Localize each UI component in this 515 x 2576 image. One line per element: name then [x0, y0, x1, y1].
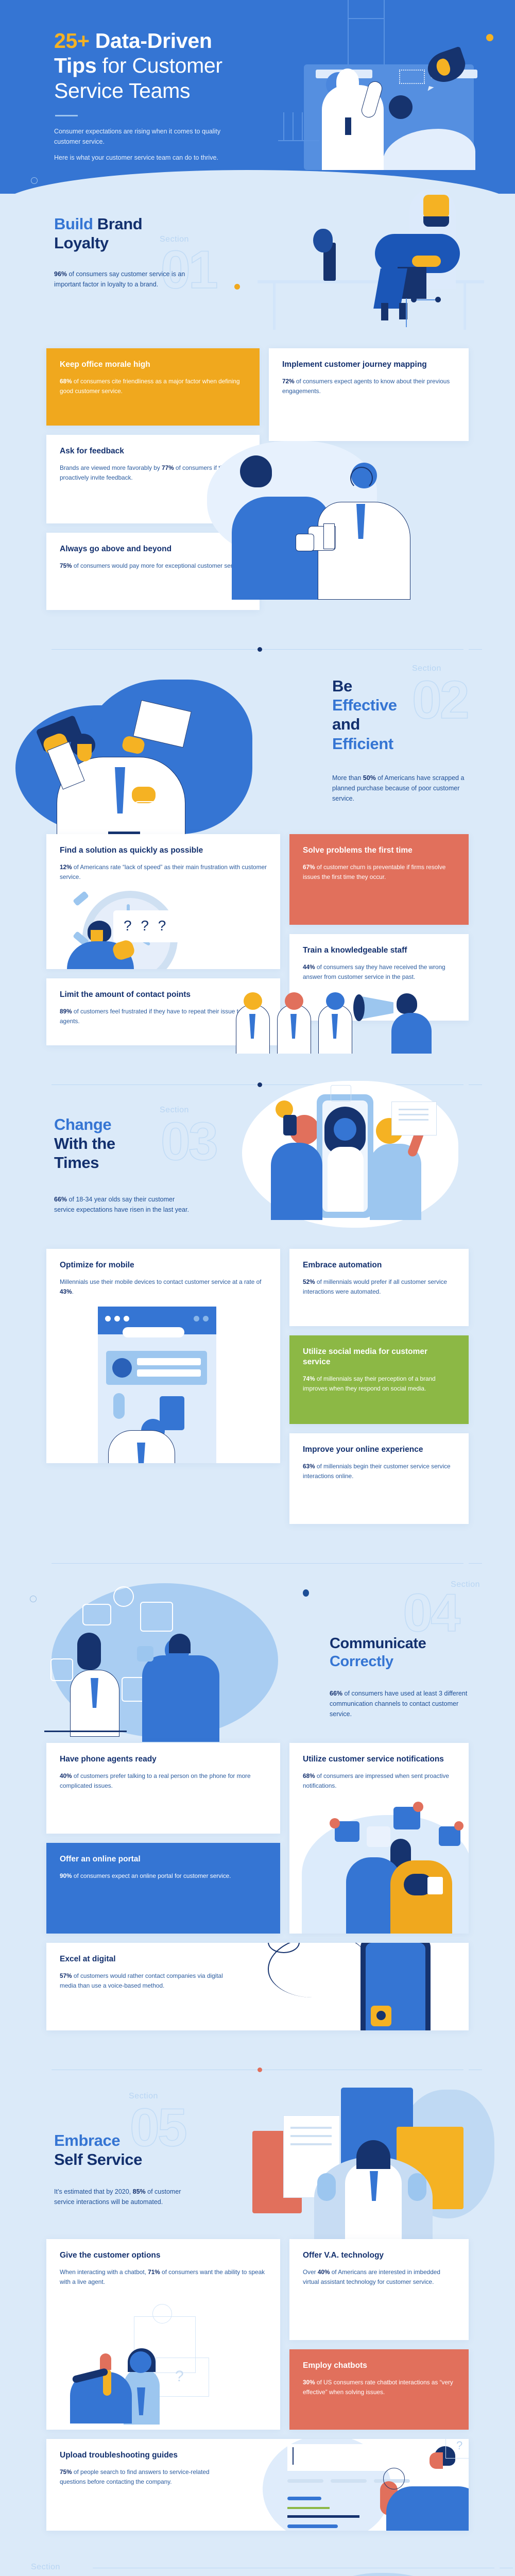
- section-03-stat-text: of 18-34 year olds say their customer se…: [54, 1196, 189, 1213]
- card-body: 30% of US consumers rate chatbot interac…: [303, 2378, 455, 2397]
- section-06: Section 06 Reap the Rewards of Excellent…: [0, 2561, 515, 2576]
- section-04: Communicate Correctly 66% of consumers h…: [0, 1573, 515, 2070]
- section-03-title-a: Change: [54, 1115, 111, 1133]
- section-04-stat-pct: 66%: [330, 1690, 342, 1697]
- section-05-title-b: Self Service: [54, 2150, 142, 2168]
- card-title: Employ chatbots: [303, 2361, 455, 2371]
- section-04-illustration: [21, 1583, 324, 1743]
- card-body: 44% of consumers say they have received …: [303, 962, 455, 982]
- title-line3: Service Teams: [54, 79, 190, 103]
- card-keep-office-morale-high: Keep office morale high 68% of consumers…: [46, 348, 260, 426]
- section-02-title-a: Be: [332, 677, 352, 695]
- section-02-stat-pct: 50%: [363, 774, 376, 782]
- card-title: Keep office morale high: [60, 360, 246, 370]
- accent-dot: [234, 284, 240, 290]
- card-body: 75% of people search to find answers to …: [60, 2467, 230, 2487]
- card-body: 67% of customer churn is preventable if …: [303, 862, 455, 882]
- card-optimize-for-mobile: Optimize for mobile Millennials use thei…: [46, 1249, 280, 1463]
- card-body: 40% of customers prefer talking to a rea…: [60, 1771, 267, 1791]
- card-offer-an-online-portal: Offer an online portal 90% of consumers …: [46, 1843, 280, 1934]
- hero-banner: 25+ Data-Driven Tips for Customer Servic…: [0, 0, 515, 170]
- card-solve-problems-the-first-time: Solve problems the first time 67% of cus…: [289, 834, 469, 925]
- card-give-the-customer-options: Give the customer options When interacti…: [46, 2239, 280, 2430]
- section-divider: [51, 649, 463, 650]
- card-title: Implement customer journey mapping: [282, 360, 455, 370]
- card-title: Give the customer options: [60, 2250, 267, 2261]
- hero-illustration: [273, 0, 515, 170]
- card-body: When interacting with a chatbot, 71% of …: [60, 2267, 267, 2287]
- section-02-illustration: [5, 674, 299, 844]
- card-employ-chatbots: Employ chatbots 30% of US consumers rate…: [289, 2349, 469, 2430]
- card-body: 68% of consumers are impressed when sent…: [303, 1771, 455, 1791]
- page-title: 25+ Data-Driven Tips for Customer Servic…: [54, 28, 288, 103]
- section-05-stat-pct: 85%: [133, 2188, 146, 2195]
- section-04-title-b: Correctly: [330, 1653, 393, 1670]
- section-01-stat-text: of consumers say customer service is an …: [54, 270, 185, 288]
- section-02-title-b: Effective: [332, 696, 397, 714]
- section-03: Change With the Times Section 03 66% of …: [0, 1094, 515, 1564]
- card-title: Find a solution as quickly as possible: [60, 845, 267, 856]
- card-find-a-solution-as-quickly-as-possible: Find a solution as quickly as possible 1…: [46, 834, 280, 969]
- card-body: 72% of consumers expect agents to know a…: [282, 377, 455, 396]
- accent-ring: [30, 1596, 37, 1602]
- section-04-stat-text: of consumers have used at least 3 differ…: [330, 1690, 467, 1718]
- section-02-stat-pre: More than: [332, 774, 363, 782]
- card-title: Utilize social media for customer servic…: [303, 1347, 455, 1367]
- section-05-title-a: Embrace: [54, 2131, 120, 2149]
- section-02-title-c: and: [332, 715, 360, 733]
- card-body: 57% of customers would rather contact co…: [60, 1971, 230, 1991]
- card-body: Millennials use their mobile devices to …: [60, 1277, 267, 1297]
- title-underline: [55, 115, 78, 116]
- card-body: Over 40% of Americans are interested in …: [303, 2267, 455, 2287]
- section-01-title-b: Brand: [93, 215, 143, 233]
- section-divider: [51, 2070, 463, 2070]
- card-embrace-automation: Embrace automation 52% of millennials wo…: [289, 1249, 469, 1326]
- card-upload-troubleshooting-guides: Upload troubleshooting guides 75% of peo…: [46, 2439, 469, 2531]
- card-improve-your-online-experience: Improve your online experience 63% of mi…: [289, 1433, 469, 1524]
- card-title: Improve your online experience: [303, 1445, 455, 1455]
- card-body: 63% of millennials begin their customer …: [303, 1462, 455, 1481]
- section-04-number: 04: [403, 1586, 458, 1640]
- title-bold-b: Tips: [54, 54, 96, 77]
- card-utilize-social-media-for-customer-service: Utilize social media for customer servic…: [289, 1335, 469, 1424]
- hero-paragraph-2: Here is what your customer service team …: [54, 153, 239, 163]
- section-01-title-c: Loyalty: [54, 234, 109, 252]
- card-body: 68% of consumers cite friendliness as a …: [60, 377, 246, 396]
- card-title: Have phone agents ready: [60, 1754, 267, 1765]
- section-01-handshake-illustration: [186, 436, 475, 606]
- section-01-illustration: [257, 173, 500, 343]
- card-title: Train a knowledgeable staff: [303, 945, 455, 956]
- section-03-title-c: Times: [54, 1154, 99, 1172]
- section-01-stat-pct: 96%: [54, 270, 67, 278]
- accent-dot: [303, 1589, 309, 1597]
- card-have-phone-agents-ready: Have phone agents ready 40% of customers…: [46, 1743, 280, 1834]
- card-utilize-customer-service-notifications: Utilize customer service notifications 6…: [289, 1743, 469, 1934]
- title-bold-a: Data-Driven: [95, 29, 212, 53]
- hero-paragraph-1: Consumer expectations are rising when it…: [54, 127, 239, 147]
- card-body: 52% of millennials would prefer if all c…: [303, 1277, 455, 1297]
- card-title: Offer V.A. technology: [303, 2250, 455, 2261]
- card-title: Utilize customer service notifications: [303, 1754, 455, 1765]
- card-excel-at-digital: Excel at digital 57% of customers would …: [46, 1943, 469, 2030]
- title-count: 25+: [54, 29, 90, 53]
- card-title: Solve problems the first time: [303, 845, 455, 856]
- section-01-title-a: Build: [54, 215, 93, 233]
- section-05: Section 05 Embrace Self Service It’s est…: [0, 2079, 515, 2561]
- infographic-page: 25+ Data-Driven Tips for Customer Servic…: [0, 0, 515, 2576]
- section-01: Build Brand Loyalty Section 01 96% of co…: [0, 170, 515, 650]
- section-02-title-d: Efficient: [332, 735, 393, 753]
- card-body: 12% of Americans rate “lack of speed” as…: [60, 862, 267, 882]
- section-05-stat-pre: It’s estimated that by 2020,: [54, 2188, 133, 2195]
- card-title: Embrace automation: [303, 1260, 455, 1270]
- section-02-number: 02: [412, 673, 468, 727]
- card-body: 74% of millennials say their perception …: [303, 1374, 455, 1394]
- section-divider: [51, 1563, 463, 1564]
- card-title: Optimize for mobile: [60, 1260, 267, 1270]
- card-implement-customer-journey-mapping: Implement customer journey mapping 72% o…: [269, 348, 469, 441]
- section-03-title-b: With the: [54, 1134, 115, 1153]
- section-02: Be Effective and Efficient More than 50%…: [0, 659, 515, 1085]
- section-03-stat-pct: 66%: [54, 1196, 67, 1203]
- title-rest-b: for Customer: [96, 54, 222, 77]
- section-06-illustration: [227, 2566, 515, 2576]
- card-body: 90% of consumers expect an online portal…: [60, 1871, 267, 1881]
- section-06-number: 06: [35, 2572, 91, 2576]
- card-title: Offer an online portal: [60, 1854, 267, 1865]
- section-02-agents-illustration: [221, 989, 438, 1054]
- card-offer-va-technology: Offer V.A. technology Over 40% of Americ…: [289, 2239, 469, 2340]
